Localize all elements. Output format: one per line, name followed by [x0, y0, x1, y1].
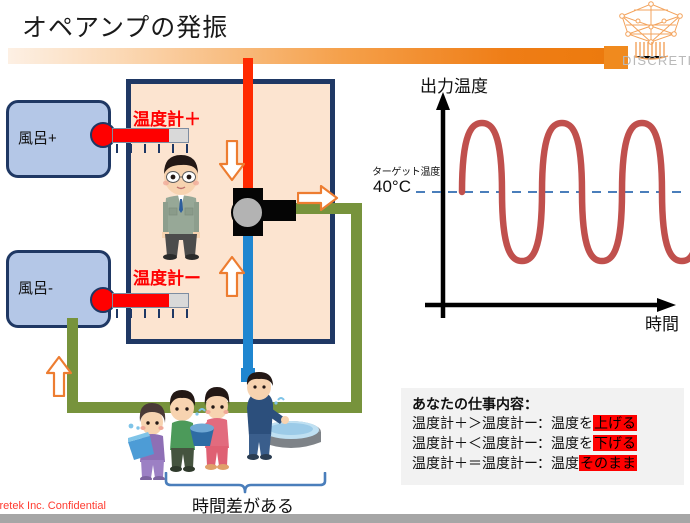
job-rule-condition: 温度計＋＜温度計ー — [412, 433, 537, 453]
arrow-right-output-icon — [297, 185, 339, 211]
chart-y-axis-label: 出力温度 — [420, 72, 488, 97]
job-rule-condition: 温度計＋＞温度計ー — [412, 413, 537, 433]
chart-x-axis-label: 時間 — [645, 310, 679, 335]
thermometer-minus-label: 温度計ー — [133, 264, 201, 289]
job-rule-condition: 温度計＋＝温度計ー — [412, 453, 537, 473]
thermometer-plus-label: 温度計＋ — [133, 105, 201, 130]
bath-plus-label: 風呂+ — [18, 127, 57, 148]
job-rule-row: 温度計＋＝温度計ー：温度そのまま — [412, 453, 637, 473]
operator-figure-illustration — [152, 152, 210, 265]
job-rule-row: 温度計＋＞温度計ー：温度を上げる — [412, 413, 637, 433]
output-pipe-segment — [67, 402, 137, 413]
bucket-brigade-illustration — [128, 370, 328, 485]
thermometer-fill — [113, 294, 169, 307]
thermometer-tube — [112, 293, 189, 308]
job-box-title: あなたの仕事内容： — [412, 394, 538, 414]
thermometer-tube — [112, 128, 189, 143]
thermometer-ticks — [116, 309, 188, 318]
job-rule-prefix: ：温度 — [537, 455, 579, 471]
job-rule-prefix: ：温度を — [537, 435, 593, 451]
arrow-up-return-icon — [46, 355, 72, 397]
job-rule-action: 上げる — [593, 415, 637, 431]
slide-canvas: オペアンプの発振 — [0, 0, 690, 523]
job-rule-row: 温度計＋＜温度計ー：温度を下げる — [412, 433, 637, 453]
confidential-footer: cretek Inc. Confidential — [0, 500, 106, 512]
job-rule-action: 下げる — [593, 435, 637, 451]
thermometer-fill — [113, 129, 169, 142]
arrow-up-cold-icon — [219, 255, 245, 297]
oscillation-chart — [360, 60, 690, 350]
target-temp-caption: ターゲット温度 — [372, 163, 440, 178]
mixing-valve-knob — [231, 196, 264, 229]
page-title: オペアンプの発振 — [22, 8, 228, 44]
footer-bar — [0, 514, 690, 523]
job-description-box: あなたの仕事内容： 温度計＋＞温度計ー：温度を上げる 温度計＋＜温度計ー：温度を… — [401, 388, 684, 485]
job-rule-prefix: ：温度を — [537, 415, 593, 431]
arrow-down-hot-icon — [219, 140, 245, 182]
bath-minus-label: 風呂- — [18, 277, 53, 298]
target-temp-value: 40°C — [373, 177, 411, 197]
job-rule-action: そのまま — [579, 455, 637, 471]
